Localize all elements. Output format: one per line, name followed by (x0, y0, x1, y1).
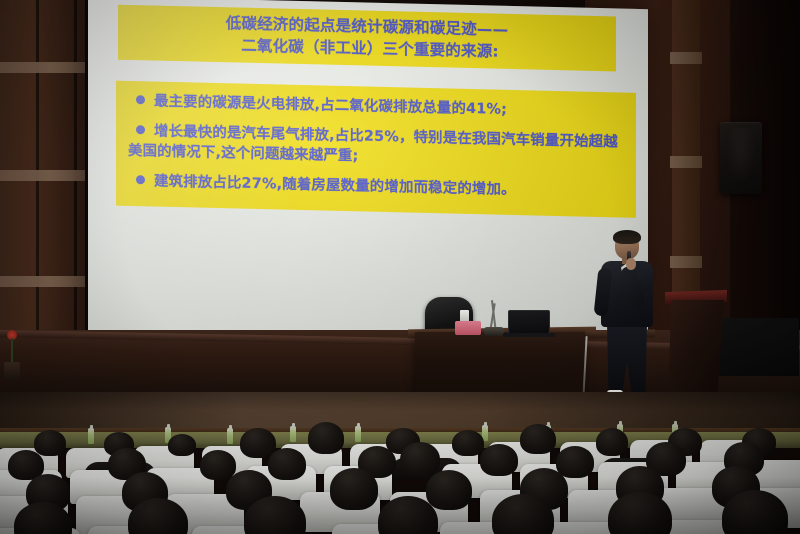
bullet-dot-icon (136, 125, 145, 134)
projection-screen: 低碳经济的起点是统计碳源和碳足迹—— 二氧化碳（非工业）三个重要的来源: 最主要… (88, 0, 648, 357)
wall-stripe (670, 52, 702, 64)
audience-head (244, 496, 306, 534)
presenter-hand (626, 258, 636, 270)
slide-title: 低碳经济的起点是统计碳源和碳足迹—— 二氧化碳（非工业）三个重要的来源: (118, 5, 616, 72)
audience-head (400, 442, 440, 476)
slide-bullet-3-text: 建筑排放占比27%,随着房屋数量的增加而稳定的增加。 (154, 174, 516, 199)
slide-content: 低碳经济的起点是统计碳源和碳足迹—— 二氧化碳（非工业）三个重要的来源: 最主要… (88, 0, 648, 357)
water-bottle (227, 428, 233, 444)
presenter-legs (607, 324, 647, 394)
slide-bullet-1-text: 最主要的碳源是火电排放,占二氧化碳排放总量的41%; (154, 94, 507, 118)
audience-head (556, 446, 594, 478)
audience-head (308, 422, 344, 454)
laptop-base (503, 333, 555, 337)
audience-head (168, 434, 196, 456)
wall-stripe (670, 256, 702, 268)
audience-head (240, 428, 276, 458)
laptop-screen (508, 310, 550, 334)
audience-head (34, 430, 66, 456)
slide-bullet-2-text: 增长最快的是汽车尾气排放,占比25%，特别是在我国汽车销量开始超越美国的情况下,… (128, 123, 618, 165)
presenter-hair (613, 230, 641, 244)
flower-stem (11, 338, 13, 364)
slide-bullet-3: 建筑排放占比27%,随着房屋数量的增加而稳定的增加。 (128, 171, 626, 203)
water-bottle (290, 426, 296, 442)
microphone-base (484, 327, 504, 336)
flower-pot (4, 362, 20, 380)
screen-left-edge (85, 0, 88, 344)
water-bottle (88, 428, 94, 444)
audience-head (480, 444, 518, 476)
water-bottle (355, 426, 361, 442)
wall-speaker-icon (720, 122, 762, 194)
audience-head (268, 448, 306, 480)
bullet-dot-icon (136, 95, 145, 104)
audience-head (452, 430, 484, 456)
lectern (668, 300, 724, 396)
audience-head (200, 450, 236, 480)
wall-stripe (670, 156, 702, 168)
bullet-dot-icon (136, 175, 145, 184)
audience-head (520, 424, 556, 454)
presenter (596, 232, 658, 400)
audience-head (426, 470, 472, 510)
lecture-hall-screenshot: 低碳经济的起点是统计碳源和碳足迹—— 二氧化碳（非工业）三个重要的来源: 最主要… (0, 0, 800, 534)
audience-area (0, 392, 800, 534)
desk-object-pink (455, 321, 481, 335)
flower-arrangement (2, 330, 24, 380)
audience-head (596, 428, 628, 456)
slide-bullet-2: 增长最快的是汽车尾气排放,占比25%，特别是在我国汽车销量开始超越美国的情况下,… (128, 121, 626, 174)
slide-body: 最主要的碳源是火电排放,占二氧化碳排放总量的41%; 增长最快的是汽车尾气排放,… (116, 81, 636, 218)
audience-head (330, 468, 378, 510)
slide-bullet-1: 最主要的碳源是火电排放,占二氧化碳排放总量的41%; (128, 91, 626, 123)
